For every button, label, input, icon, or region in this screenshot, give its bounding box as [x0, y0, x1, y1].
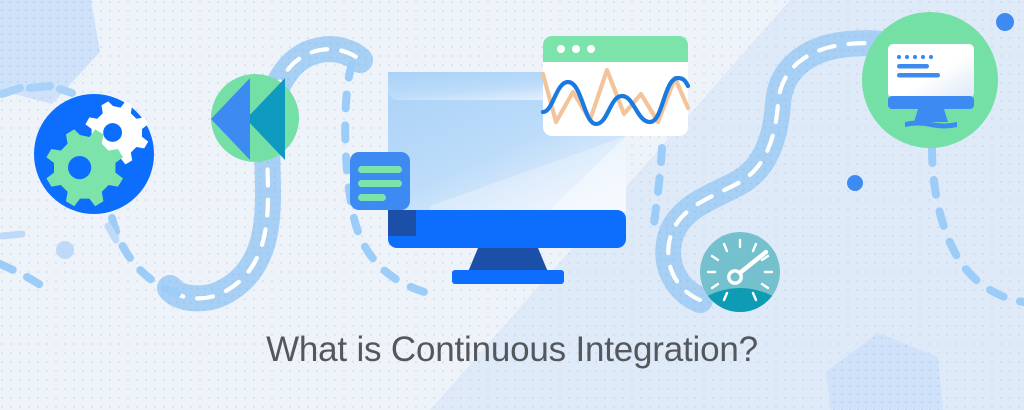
- gears-station[interactable]: [34, 94, 154, 214]
- monitor-neck: [468, 248, 548, 272]
- decor-dash-topleft-a: [2, 88, 20, 94]
- decor-dash-topleft-c: [60, 89, 72, 93]
- monitor-base-shadow: [388, 210, 416, 236]
- decor-dash-left-low: [2, 234, 22, 236]
- ci-banner: What is Continuous Integration?: [0, 0, 1024, 410]
- deploy-monitor-screen: [888, 44, 974, 98]
- page-title: What is Continuous Integration?: [0, 330, 1024, 370]
- list-card[interactable]: [350, 152, 410, 210]
- rewind-station[interactable]: [211, 74, 299, 162]
- chart-window-dot-1: [557, 45, 565, 53]
- decor-dot-mid-right: [847, 175, 863, 191]
- deploy-monitor-neck: [914, 109, 948, 122]
- chart-window-dot-3: [587, 45, 595, 53]
- deploy-monitor-line-2: [897, 73, 940, 78]
- decor-dash-topleft-b: [30, 86, 50, 88]
- monitor-base-bar: [388, 210, 626, 248]
- decor-dot-left: [56, 241, 74, 259]
- list-card-row-3: [358, 194, 386, 201]
- decor-dot-right-top: [996, 13, 1014, 31]
- deploy-monitor-line-1: [897, 64, 929, 69]
- list-card-row-1: [358, 166, 402, 173]
- deploy-monitor-base-bar: [888, 96, 974, 109]
- list-card-row-2: [358, 180, 402, 187]
- gauge-hub: [729, 271, 741, 283]
- chart-window[interactable]: [543, 36, 688, 136]
- deploy-station[interactable]: [862, 12, 998, 148]
- chart-window-dot-2: [572, 45, 580, 53]
- monitor-foot: [452, 270, 564, 284]
